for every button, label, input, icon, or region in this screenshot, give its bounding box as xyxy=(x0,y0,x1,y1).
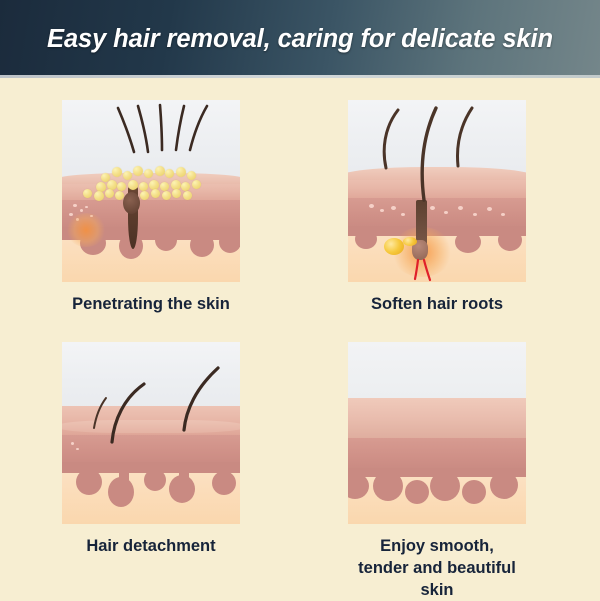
cream-bubble xyxy=(187,171,196,180)
hair-strand xyxy=(348,100,526,282)
infographic-page: Easy hair removal, caring for delicate s… xyxy=(0,0,600,600)
cream-bubble xyxy=(155,166,165,176)
illustration-enjoy-smooth-skin xyxy=(348,342,526,524)
cream-bubble xyxy=(94,191,104,201)
panel-caption: Enjoy smooth, tender and beautiful skin xyxy=(348,536,526,601)
cream-bubble xyxy=(160,182,169,191)
dermis-lobe-stem xyxy=(501,468,512,490)
dermis-lobe-stem xyxy=(442,468,453,493)
hair-strand-detached xyxy=(62,342,240,524)
dermis-lobe-stem xyxy=(385,468,396,493)
epidermis-surface xyxy=(348,398,526,438)
panel-grid: Penetrating the skin xyxy=(0,78,600,600)
cream-bubble xyxy=(105,189,114,198)
page-title: Easy hair removal, caring for delicate s… xyxy=(0,25,600,54)
panel-caption: Soften hair roots xyxy=(348,294,526,316)
cream-bubble xyxy=(192,180,201,189)
cream-bubble xyxy=(139,182,148,191)
cream-bubble xyxy=(117,182,126,191)
dermis-layer xyxy=(348,438,526,471)
panel-hair-detachment[interactable]: Hair detachment xyxy=(62,342,240,558)
cream-bubble xyxy=(162,191,171,200)
panel-caption: Hair detachment xyxy=(62,536,240,558)
illustration-hair-detachment xyxy=(62,342,240,524)
cream-bubble xyxy=(133,166,143,176)
illustration-soften-hair-roots xyxy=(348,100,526,282)
header-banner: Easy hair removal, caring for delicate s… xyxy=(0,0,600,78)
cream-bubble xyxy=(183,191,192,200)
panel-penetrating-the-skin[interactable]: Penetrating the skin xyxy=(62,100,240,316)
cream-bubble xyxy=(123,171,132,180)
panel-soften-hair-roots[interactable]: Soften hair roots xyxy=(348,100,526,316)
cream-bubble xyxy=(128,180,138,190)
illustration-penetrating-the-skin xyxy=(62,100,240,282)
cream-bubble xyxy=(144,169,153,178)
background-sky xyxy=(348,342,526,400)
panel-enjoy-smooth-skin[interactable]: Enjoy smooth, tender and beautiful skin xyxy=(348,342,526,601)
panel-caption: Penetrating the skin xyxy=(62,294,240,316)
